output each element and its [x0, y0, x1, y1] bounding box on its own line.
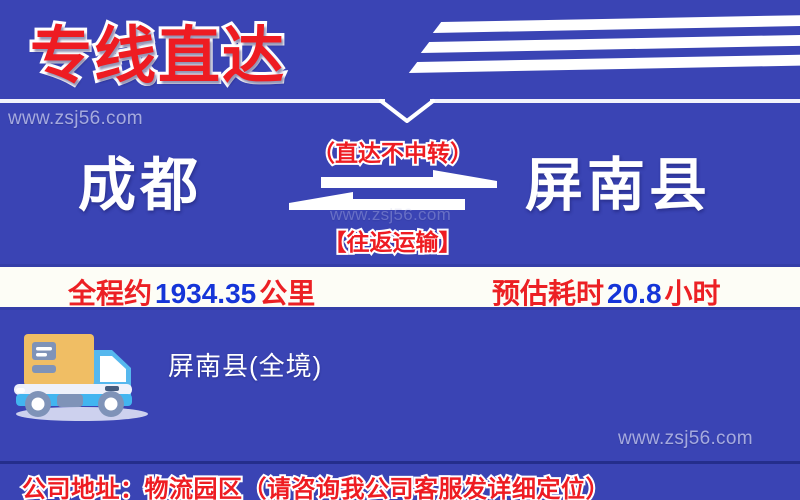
- decor-stripe-1: [433, 15, 800, 33]
- divider-right: [430, 99, 800, 103]
- stats-bar: 全程约1934.35公里 预估耗时20.8小时: [0, 264, 800, 310]
- duration-prefix: 预估耗时: [492, 278, 604, 309]
- decor-stripe-2: [421, 34, 800, 53]
- footer-bar: 公司地址：物流园区（请咨询我公司客服发详细定位）: [0, 461, 800, 500]
- delivery-truck-icon: [8, 316, 156, 424]
- decor-stripe-3: [409, 54, 800, 73]
- duration-unit: 小时: [665, 278, 721, 309]
- route-note-direct: （直达不中转）: [280, 134, 505, 168]
- route-note-roundtrip: 【往返运输】: [280, 223, 505, 257]
- logistics-route-banner: 专线直达 www.zsj56.com 成都 （直达不中转） 【往返运输】 屏南县…: [0, 0, 800, 500]
- route-middle: （直达不中转） 【往返运输】: [280, 118, 505, 258]
- distance-unit: 公里: [259, 278, 315, 309]
- route-section: 成都 （直达不中转） 【往返运输】 屏南县: [0, 118, 800, 258]
- divider-left: [0, 99, 385, 103]
- title-band: 专线直达: [0, 0, 800, 101]
- page-title: 专线直达: [30, 5, 286, 95]
- origin-city: 成都: [78, 138, 202, 222]
- destination-city: 屏南县: [525, 138, 711, 222]
- duration-value: 20.8: [604, 278, 665, 309]
- distance-value: 1934.35: [152, 278, 259, 309]
- company-address-text: 公司地址：物流园区（请咨询我公司客服发详细定位）: [22, 469, 610, 500]
- distance-prefix: 全程约: [68, 278, 152, 309]
- watermark-center: www.zsj56.com: [330, 205, 451, 225]
- duration-stat: 预估耗时20.8小时: [492, 272, 721, 312]
- coverage-area-label: 屏南县(全境): [168, 346, 322, 383]
- distance-stat: 全程约1934.35公里: [68, 272, 315, 312]
- watermark-bottom: www.zsj56.com: [618, 428, 753, 450]
